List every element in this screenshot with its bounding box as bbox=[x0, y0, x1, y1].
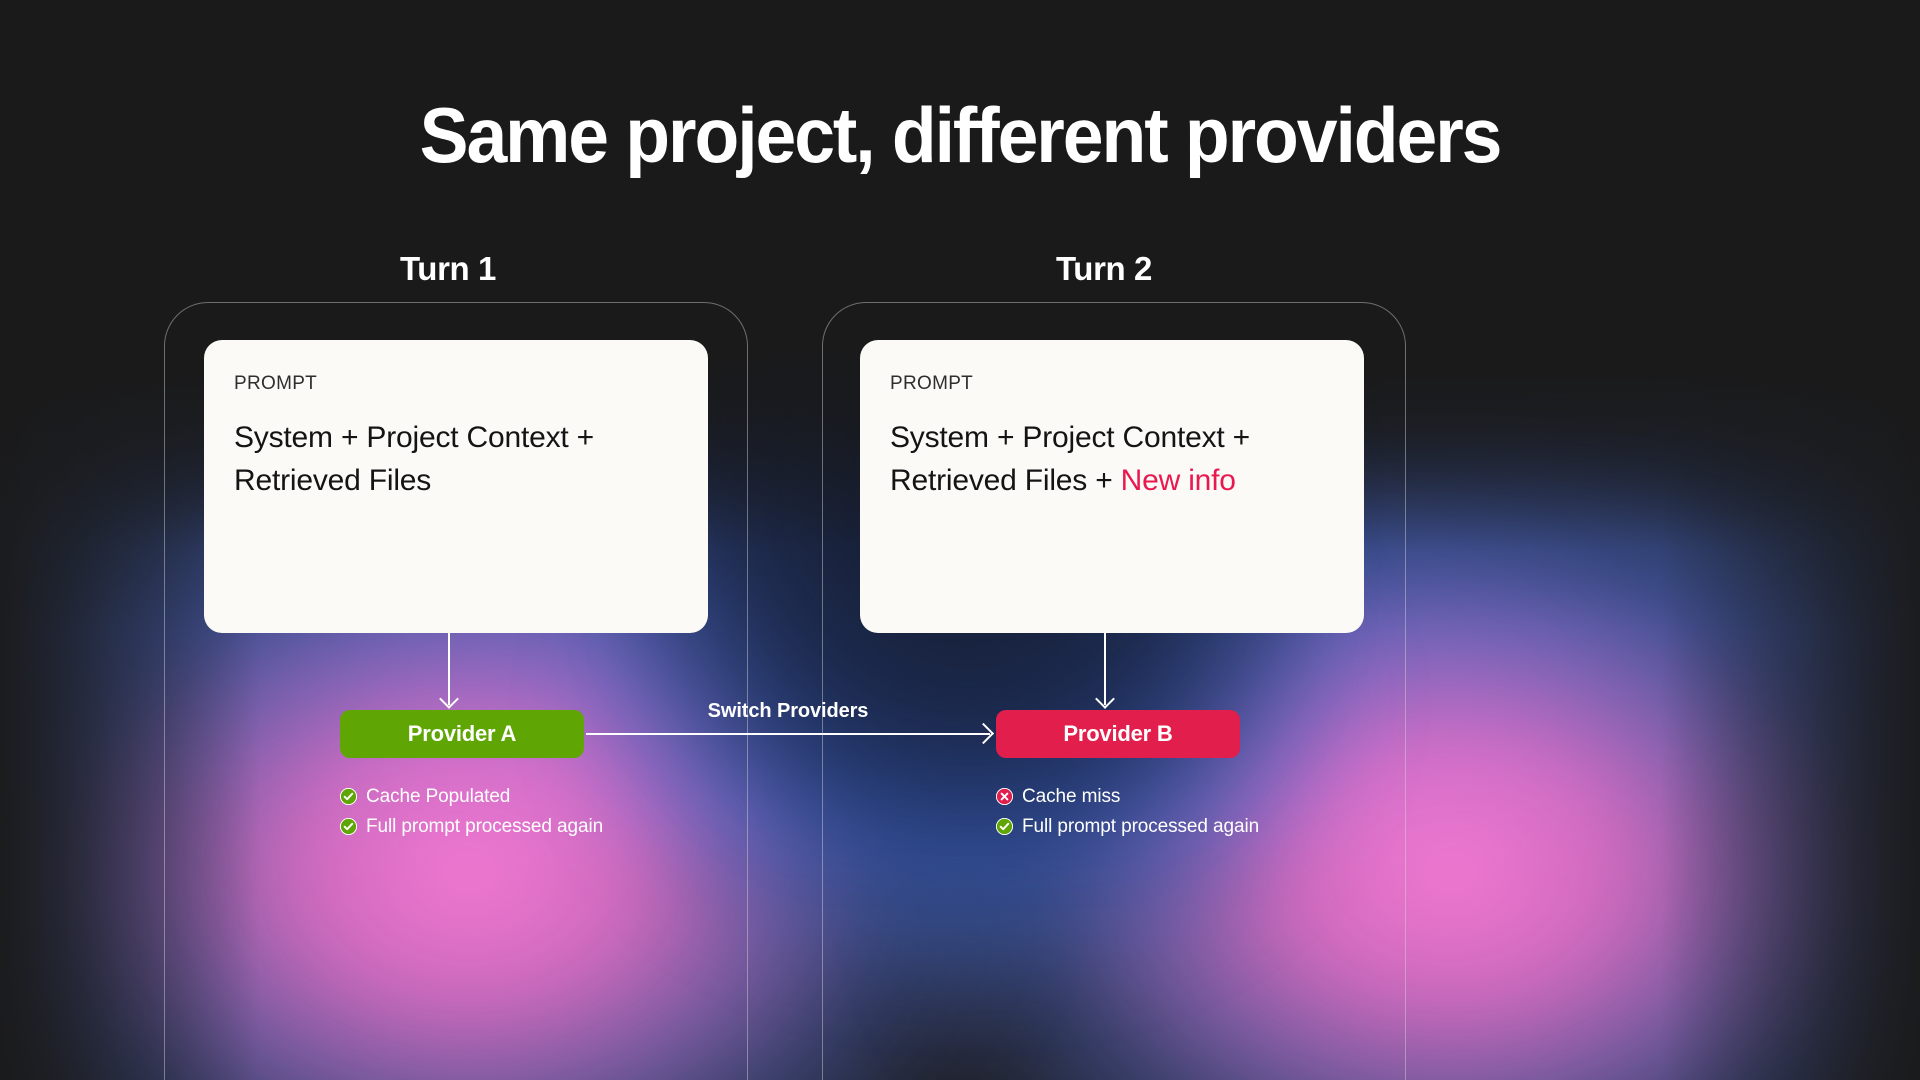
status-list-turn-2: Cache miss Full prompt processed again bbox=[996, 787, 1259, 847]
check-circle-icon bbox=[340, 788, 357, 805]
flow-arrow-down-turn-1 bbox=[438, 633, 460, 705]
prompt-card-turn-2: PROMPT System + Project Context + Retrie… bbox=[860, 340, 1364, 633]
status-label: Full prompt processed again bbox=[366, 817, 603, 836]
provider-b-pill[interactable]: Provider B bbox=[996, 710, 1240, 758]
status-item: Full prompt processed again bbox=[996, 817, 1259, 836]
status-list-turn-1: Cache Populated Full prompt processed ag… bbox=[340, 787, 603, 847]
turn-label-1: Turn 1 bbox=[288, 250, 608, 288]
turn-label-2: Turn 2 bbox=[944, 250, 1264, 288]
prompt-kicker: PROMPT bbox=[234, 374, 678, 393]
status-item: Full prompt processed again bbox=[340, 817, 603, 836]
prompt-kicker: PROMPT bbox=[890, 374, 1334, 393]
status-item: Cache miss bbox=[996, 787, 1259, 806]
provider-a-label: Provider A bbox=[408, 721, 516, 747]
prompt-body-accent: New info bbox=[1121, 464, 1236, 497]
prompt-body: System + Project Context + Retrieved Fil… bbox=[234, 417, 678, 502]
check-circle-icon bbox=[340, 818, 357, 835]
prompt-body: System + Project Context + Retrieved Fil… bbox=[890, 417, 1334, 502]
prompt-body-main: System + Project Context + Retrieved Fil… bbox=[234, 421, 594, 497]
check-circle-icon bbox=[996, 818, 1013, 835]
page-title: Same project, different providers bbox=[58, 96, 1863, 174]
flow-arrow-down-turn-2 bbox=[1094, 633, 1116, 705]
provider-b-label: Provider B bbox=[1063, 721, 1172, 747]
status-label: Cache miss bbox=[1022, 787, 1120, 806]
prompt-card-turn-1: PROMPT System + Project Context + Retrie… bbox=[204, 340, 708, 633]
x-circle-icon bbox=[996, 788, 1013, 805]
status-label: Cache Populated bbox=[366, 787, 510, 806]
provider-a-pill[interactable]: Provider A bbox=[340, 710, 584, 758]
status-item: Cache Populated bbox=[340, 787, 603, 806]
status-label: Full prompt processed again bbox=[1022, 817, 1259, 836]
